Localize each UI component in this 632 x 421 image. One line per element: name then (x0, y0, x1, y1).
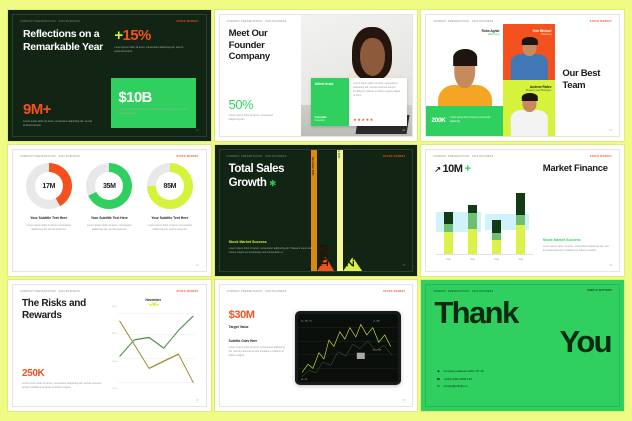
donut-note: Lorem ipsum dolor sit amet, consectetur … (85, 224, 133, 232)
donut-value: 17M (42, 183, 55, 190)
slide-thumbnail-donut-stats[interactable]: Company Presentation · 2024 Business Sto… (8, 145, 211, 276)
arrow-bar-chart: December 2023 10M December 2024 21M (306, 177, 406, 271)
team-title-column: Our Best Team (555, 24, 619, 136)
risks-kpi-block: 250K Lorem ipsum dolor sit amet, consect… (22, 368, 106, 390)
donut-stat-1: 17M Your Subtitle Text Here Lorem ipsum … (21, 163, 77, 263)
chart-y-axis-labels: 400K300K200K100K (106, 306, 117, 390)
donut-subtitle: Your Subtitle Text Here (30, 216, 67, 220)
y-axis-tick: 200K (106, 361, 117, 363)
arrow-bar-1: December 2023 10M (306, 149, 334, 271)
line-chart-svg (118, 308, 195, 388)
stacked-bar-chart (436, 193, 532, 255)
page-number: 01 (196, 129, 199, 132)
market-text-column: Market Finance Stock Market Success Lore… (537, 163, 611, 263)
bar-segment-mid-green (468, 213, 477, 228)
slide1-title-cell: Reflections on a Remarkable Year (23, 28, 109, 78)
section-title: Stock Market Success (543, 238, 611, 242)
team-member-1[interactable]: Robs Aghbi Marketing 200K Lorem ipsum do… (426, 24, 503, 136)
section-subtitle: Subtitle Goes Here (229, 339, 292, 343)
title-line-2: You (434, 328, 611, 357)
slide-thumbnail-total-sales-growth[interactable]: Company Presentation · 2024 Business Sto… (215, 145, 418, 276)
market-kpi: ↗ 10M+ (434, 163, 536, 175)
donut-value: 85M (164, 183, 177, 190)
member-role: Marketing (482, 33, 500, 36)
trading-chart-graphic: 14,302.55+2.48% BTC/USD09:30 (298, 314, 398, 382)
rating-stars-icon: ★★★★★ (353, 117, 403, 122)
page-number: 08 (403, 399, 406, 402)
title-line-2: Growth (229, 177, 267, 189)
tablet-device: 14,302.55+2.48% BTC/USD09:30 (295, 311, 401, 385)
contact-list: ◆ Company address 1234, NY 10 ☎ +(012) 4… (436, 369, 483, 388)
value-note: Lorem ipsum dolor sit amet, consectetur … (118, 108, 188, 116)
team-member-3-label: Andrew Rafeo Project Lead Manager (526, 85, 552, 92)
svg-text:14,302.55: 14,302.55 (301, 320, 312, 322)
bar-segment-dark-green (444, 212, 453, 224)
arrow-bar-2-shape: 21M (343, 257, 362, 271)
slide-thumbnail-market-finance[interactable]: Company Presentation · 2024 Business Sto… (421, 145, 624, 276)
bar-segment-dark-green (492, 220, 501, 233)
arrow-up-right-icon: ↗ (434, 165, 440, 174)
line-chart-plot (118, 308, 195, 388)
contact-phone-text: +(012) 4321 0000 123 (443, 377, 472, 381)
kpi-note: Lorem ipsum dolor sit amet, consectetur … (22, 382, 106, 390)
slide-thumbnail-best-team[interactable]: Company Presentation · 2024 Business Sto… (421, 10, 624, 141)
bar-segment-lime (444, 232, 453, 254)
page-number: 04 (196, 264, 199, 267)
donut-chart: 35M (86, 163, 132, 209)
risks-text-column: The Risks and Rewards 250K Lorem ipsum d… (22, 298, 106, 398)
x-axis-tick: Year (518, 258, 523, 261)
percent-note: Lorem ipsum dolor sit amet, consectetur … (229, 114, 285, 122)
section-note: Lorem ipsum dolor sit amet, consectetur … (229, 247, 314, 255)
users-stat: 9M+ (23, 102, 109, 117)
contact-email[interactable]: ✉ contact@infinity.co (436, 384, 483, 388)
tablet-screen: 14,302.55+2.48% BTC/USD09:30 (298, 314, 398, 382)
microheader-left: Company Presentation · 2024 Business (433, 290, 493, 293)
x-axis-tick: Year (494, 258, 499, 261)
stacked-bar (444, 212, 453, 254)
testimonial-quote: Lorem ipsum dolor sit amet, consectetur … (353, 82, 403, 98)
founder-text-column: Meet Our Founder Company 50% Lorem ipsum… (220, 15, 301, 136)
kpi-value: $30M (229, 310, 292, 321)
x-axis-tick: Year (446, 258, 451, 261)
page-title: Market Finance (543, 163, 611, 175)
testimonial-card-right: Lorem ipsum dolor sit amet, consectetur … (349, 78, 407, 126)
slide1-growth-cell: +15% Lorem ipsum dolor sit amet, consect… (109, 28, 195, 78)
svg-text:BTC/USD: BTC/USD (373, 350, 382, 352)
slide-thumbnail-reflections[interactable]: Company Presentation · 2024 Business Sto… (8, 10, 211, 141)
donut-chart: 17M (26, 163, 72, 209)
growth-note: Lorem ipsum dolor sit amet, consectetur … (114, 46, 183, 54)
arrow-bar-2: December 2024 21M (337, 149, 362, 271)
section-note: Lorem ipsum dolor sit amet, consectetur … (229, 346, 287, 358)
growth-stat: +15% (114, 28, 195, 43)
kpi-label: Target Value (229, 325, 292, 329)
slide-thumbnail-target-value[interactable]: Company Presentation · 2024 Business Sto… (215, 280, 418, 411)
bar-segment-dark-green (516, 193, 525, 215)
arrow-bar-1-shape: 10M (317, 257, 334, 271)
location-pin-icon: ◆ (436, 369, 440, 373)
page-number: 05 (403, 264, 406, 267)
section-title: Stock Market Success (229, 240, 314, 244)
page-number: 06 (609, 264, 612, 267)
arrow-bar-2-label: 21M (343, 245, 362, 267)
donut-note: Lorem ipsum dolor sit amet, consectetur … (25, 224, 73, 232)
team-kpi-value: 200K (431, 117, 445, 124)
slide-microheader: Company Presentation · 2024 Business Sto… (433, 20, 612, 23)
bar-segment-dark-green (468, 205, 477, 213)
page-title: Thank You (434, 299, 611, 356)
slide-thumbnail-thank-you[interactable]: Company Presentation · 2024 Business Sim… (421, 280, 624, 411)
microheader-right: Simple Matters (588, 290, 612, 293)
founder-name: Albert Insta (315, 82, 345, 86)
email-icon: ✉ (436, 384, 440, 388)
svg-text:+2.48%: +2.48% (373, 319, 381, 322)
svg-text:09:30: 09:30 (301, 379, 308, 381)
donut-chart: 85M (147, 163, 193, 209)
microheader-left: Company Presentation · 2024 Business (433, 20, 493, 23)
page-number: 03 (609, 129, 612, 132)
member-role: Planning (533, 33, 552, 36)
title-line-1: Total Sales (229, 163, 284, 175)
users-note: Lorem ipsum dolor sit amet, consectetur … (23, 120, 92, 128)
donut-subtitle: Your Subtitle Text Here (91, 216, 128, 220)
section-note: Lorem ipsum dolor sit amet, consectetur … (543, 245, 611, 253)
bar-segment-mid-green (444, 224, 453, 232)
bar-segment-lime (492, 240, 501, 254)
team-member-2-label: Gab Michael Planning (533, 29, 552, 36)
kpi-plus: + (464, 163, 470, 175)
sales-note-block: Stock Market Success Lorem ipsum dolor s… (229, 240, 314, 255)
slide-thumbnail-risks-rewards[interactable]: Company Presentation · 2024 Business Sto… (8, 280, 211, 411)
testimonial-card[interactable]: Albert Insta FounderCompany Lorem ipsum … (311, 78, 407, 126)
bar-segment-mid-green (492, 233, 501, 241)
page-number: 07 (196, 399, 199, 402)
bar-segment-lime (468, 229, 477, 254)
kpi-value: 10M (443, 163, 463, 175)
x-axis-tick: Year (470, 258, 475, 261)
team-kpi-note: Lorem ipsum dolor sit amet, consectetur … (450, 117, 499, 124)
slide-thumbnail-grid: Company Presentation · 2024 Business Sto… (0, 0, 632, 421)
stacked-bar (492, 220, 501, 254)
stacked-bar (468, 205, 477, 254)
contact-address[interactable]: ◆ Company address 1234, NY 10 (436, 369, 483, 373)
team-column-middle: Gab Michael Planning Andrew Rafeo Projec… (503, 24, 555, 136)
bar-segment-mid-green (516, 215, 525, 225)
founder-photo: Albert Insta FounderCompany Lorem ipsum … (301, 15, 413, 136)
page-number: 02 (403, 129, 406, 132)
page-title: Reflections on a Remarkable Year (23, 28, 109, 54)
percent-stat: 50% (229, 98, 301, 111)
value-stat: $10B (118, 90, 188, 105)
page-title: The Risks and Rewards (22, 298, 106, 322)
founder-role: FounderCompany (315, 115, 345, 122)
leaf-decor-icon (148, 298, 160, 307)
team-member-3[interactable]: Andrew Rafeo Project Lead Manager (503, 80, 555, 136)
microheader-right: Stock Market (590, 20, 612, 23)
slide1-users-cell: 9M+ Lorem ipsum dolor sit amet, consecte… (23, 102, 109, 128)
donut-subtitle: Your Subtitle Text Here (151, 216, 188, 220)
slide-microheader: Company Presentation · 2024 Business Sim… (433, 290, 612, 293)
risks-chart-column: November 400K300K200K100K (106, 298, 197, 398)
y-axis-tick: 400K (106, 306, 117, 308)
donut-stat-3: 85M Your Subtitle Text Here Lorem ipsum … (142, 163, 198, 263)
chart-x-axis-labels: YearYearYearYear (436, 258, 532, 261)
slide-thumbnail-founder[interactable]: Company Presentation · 2024 Business Mee… (215, 10, 418, 141)
target-text-column: $30M Target Value Subtitle Goes Here Lor… (229, 298, 292, 398)
y-axis-tick: 100K (106, 388, 117, 390)
market-note-block: Stock Market Success Lorem ipsum dolor s… (543, 238, 611, 253)
contact-email-text: contact@infinity.co (443, 384, 467, 388)
donut-note: Lorem ipsum dolor sit amet, consectetur … (146, 224, 194, 232)
title-line-1: Thank (434, 295, 517, 330)
bar-segment-lime (516, 225, 525, 254)
team-member-1-label: Robs Aghbi Marketing (482, 29, 500, 36)
arrow-bar-1-label: 10M (317, 245, 334, 267)
page-title: Our Best Team (562, 68, 619, 92)
team-member-2[interactable]: Gab Michael Planning (503, 24, 555, 80)
page-title: Meet Our Founder Company (229, 28, 301, 63)
tablet-mockup-column: 14,302.55+2.48% BTC/USD09:30 (292, 298, 404, 398)
donut-value: 35M (103, 183, 116, 190)
contact-address-text: Company address 1234, NY 10 (443, 369, 483, 373)
testimonial-card-left: Albert Insta FounderCompany (311, 78, 349, 126)
donut-stat-2: 35M Your Subtitle Text Here Lorem ipsum … (82, 163, 138, 263)
member-role: Project Lead Manager (526, 89, 552, 92)
team-kpi-bar: 200K Lorem ipsum dolor sit amet, consect… (426, 106, 503, 136)
kpi-value: 250K (22, 368, 106, 379)
market-chart-column: ↗ 10M+ YearYearYearYear (434, 163, 536, 263)
founder-percent-block: 50% Lorem ipsum dolor sit amet, consecte… (229, 98, 301, 128)
phone-icon: ☎ (436, 377, 440, 381)
contact-phone[interactable]: ☎ +(012) 4321 0000 123 (436, 377, 483, 381)
slide1-value-card: $10B Lorem ipsum dolor sit amet, consect… (111, 78, 195, 128)
sparkle-icon: ✻ (269, 179, 275, 188)
y-axis-tick: 300K (106, 333, 117, 335)
stacked-bar (516, 193, 525, 254)
